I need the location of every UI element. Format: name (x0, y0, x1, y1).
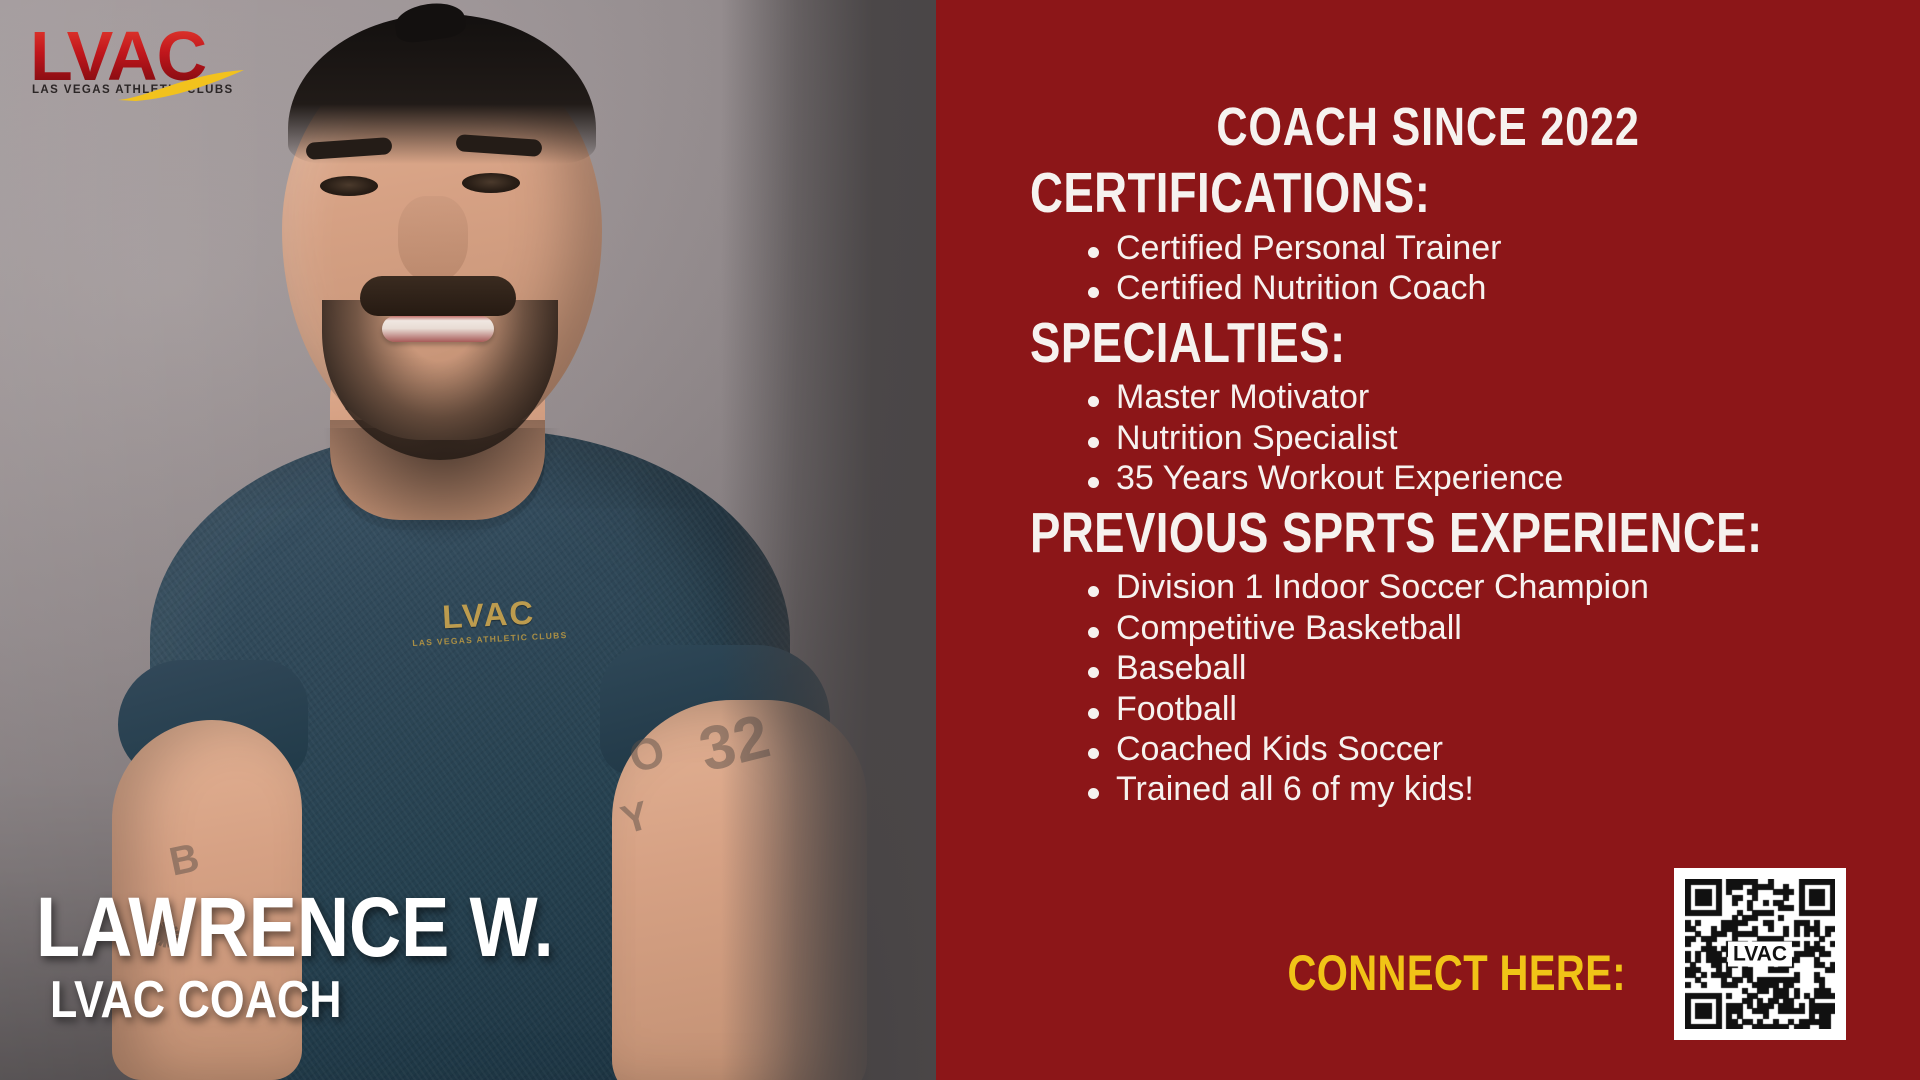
list-item: Competitive Basketball (1088, 610, 1920, 647)
lvac-logo-mark: LVAC (30, 24, 246, 88)
arm-tattoo: B (166, 835, 204, 885)
coach-name: LAWRENCE W. (36, 887, 554, 968)
arm-tattoo: Y (616, 793, 654, 844)
section-list: Division 1 Indoor Soccer ChampionCompeti… (936, 569, 1920, 808)
list-item: Master Motivator (1088, 379, 1920, 416)
list-item: Baseball (1088, 650, 1920, 687)
list-item: Football (1088, 691, 1920, 728)
connect-here-label: CONNECT HERE: (1130, 944, 1626, 1002)
section-list: Master MotivatorNutrition Specialist35 Y… (936, 379, 1920, 497)
list-item: Trained all 6 of my kids! (1088, 771, 1920, 808)
mouth (382, 316, 494, 342)
coach-photo-panel: B ✺ O Y 32 X H H X O X (0, 0, 936, 1080)
info-section: PREVIOUS SPRTS EXPERIENCE:Division 1 Ind… (936, 502, 1920, 809)
nose (398, 196, 468, 282)
connect-row: CONNECT HERE: LVAC (936, 840, 1920, 1080)
eye-right (462, 173, 520, 193)
list-item: Certified Personal Trainer (1088, 230, 1920, 267)
qr-code[interactable]: LVAC (1674, 868, 1846, 1040)
list-item: Division 1 Indoor Soccer Champion (1088, 569, 1920, 606)
list-item: Nutrition Specialist (1088, 420, 1920, 457)
info-sections: CERTIFICATIONS:Certified Personal Traine… (936, 162, 1920, 809)
list-item: 35 Years Workout Experience (1088, 460, 1920, 497)
coach-since-heading: COACH SINCE 2022 (1034, 96, 1821, 158)
coach-profile-poster: B ✺ O Y 32 X H H X O X (0, 0, 1920, 1080)
shirt-lvac-logo: LVAC LAS VEGAS ATHLETIC CLUBS (403, 594, 575, 649)
coach-role: LVAC COACH (50, 973, 556, 1028)
arm-tattoo: O (623, 726, 671, 784)
photo-edge-shadow (721, 0, 936, 1080)
coach-info-panel: COACH SINCE 2022 CERTIFICATIONS:Certifie… (936, 0, 1920, 1080)
coach-name-block: LAWRENCE W. LVAC COACH (36, 887, 638, 1028)
eye-left (320, 176, 378, 196)
section-heading: CERTIFICATIONS: (1030, 162, 1742, 226)
info-section: SPECIALTIES:Master MotivatorNutrition Sp… (936, 312, 1920, 498)
info-section: CERTIFICATIONS:Certified Personal Traine… (936, 162, 1920, 308)
list-item: Coached Kids Soccer (1088, 731, 1920, 768)
qr-center-logo: LVAC (1728, 942, 1792, 967)
section-heading: SPECIALTIES: (1030, 312, 1742, 376)
lvac-logo: LVAC LAS VEGAS ATHLETIC CLUBS (30, 24, 246, 96)
moustache (360, 276, 516, 316)
list-item: Certified Nutrition Coach (1088, 270, 1920, 307)
section-heading: PREVIOUS SPRTS EXPERIENCE: (1030, 502, 1742, 566)
section-list: Certified Personal TrainerCertified Nutr… (936, 230, 1920, 308)
